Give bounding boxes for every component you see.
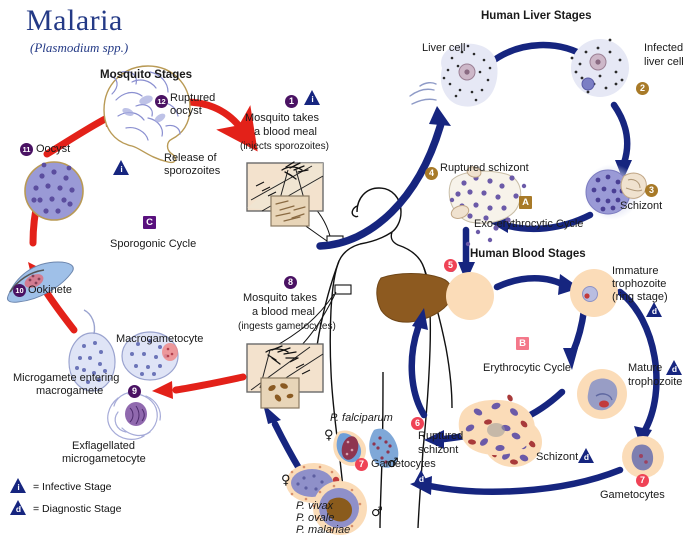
- label-liver-cell: Liver cell: [422, 42, 465, 55]
- infective-stage-marker-bite1: i: [304, 90, 321, 105]
- label-release-of-l2: sporozoites: [164, 165, 220, 178]
- arrow-navy-immature-to-mature: [573, 310, 584, 352]
- malaria-life-cycle-diagram: Malaria (Plasmodium spp.): [0, 0, 700, 533]
- cycle-label-C: Sporogonic Cycle: [110, 238, 196, 251]
- label-microgamete-l2: macrogamete: [36, 385, 103, 398]
- arrow-navy-bruptured-to-rbc: [412, 328, 424, 415]
- label-mature-troph-l1: Mature: [628, 362, 662, 375]
- rbc-gametocyte-right: [622, 436, 664, 478]
- oocyst-cell: [25, 162, 83, 220]
- label-mature-troph-l2: trophozoite: [628, 376, 682, 389]
- label-mosquito-bite-8-l3: (ingests gametocytes): [238, 320, 336, 333]
- infective-glyph: i: [304, 93, 321, 105]
- label-ookinete: Ookinete: [28, 284, 72, 297]
- step-badge-10: 10: [13, 284, 26, 297]
- legend-diagnostic-triangle: d: [10, 500, 27, 515]
- cycle-label-A: Exo-erythrocytic Cycle: [474, 218, 583, 231]
- liver-organ: [377, 274, 453, 323]
- cycle-marker-A: A: [519, 196, 532, 209]
- infective-stage-marker-sporozoites: i: [113, 160, 130, 175]
- arrow-navy-infected-to-schizont: [614, 105, 627, 163]
- label-infected-liver-cell-l2: liver cell: [644, 56, 684, 69]
- step-badge-11: 11: [20, 143, 33, 156]
- step-badge-7-center: 7: [355, 458, 368, 471]
- rbc-uninfected: [446, 272, 494, 320]
- male-symbol-falciparum: ♂: [387, 456, 399, 471]
- section-title-mosquito-stages: Mosquito Stages: [100, 69, 192, 82]
- label-exflagellated-l2: microgametocyte: [62, 453, 146, 466]
- label-exflagellated-l1: Exflagellated: [72, 440, 135, 453]
- legend-infective-triangle: i: [10, 478, 27, 493]
- label-ruptured-oocyst-l2: oocyst: [170, 105, 202, 118]
- label-oocyst: Oocyst: [36, 143, 70, 156]
- female-symbol-falciparum: ♀: [324, 428, 334, 443]
- arrow-red-photo8-to-gametes: [176, 377, 243, 390]
- step-badge-2: 2: [636, 82, 649, 95]
- diagnostic-glyph: d: [578, 451, 595, 463]
- label-immature-troph-l3: (ring stage): [612, 291, 668, 304]
- label-gametocytes-center: Gametocytes: [371, 458, 436, 471]
- label-immature-troph-l1: Immature: [612, 265, 658, 278]
- infective-glyph: i: [113, 163, 130, 175]
- label-release-of-l1: Release of: [164, 152, 217, 165]
- section-title-liver-stages: Human Liver Stages: [481, 10, 592, 23]
- diagnostic-glyph: d: [666, 363, 683, 375]
- label-ruptured-schizont-blood-l2: schizont: [418, 444, 458, 457]
- step-badge-9: 9: [128, 385, 141, 398]
- label-gametocytes-right: Gametocytes: [600, 489, 665, 502]
- label-p-malariae: P. malariae: [296, 524, 350, 537]
- label-schizont-blood: Schizont: [536, 451, 578, 464]
- male-symbol-vivax: ♂: [371, 505, 383, 520]
- step-badge-4: 4: [425, 167, 438, 180]
- diagnostic-glyph: d: [413, 473, 430, 485]
- exflagellated-microgametocyte-cell: [108, 392, 161, 439]
- step-badge-12: 12: [155, 95, 168, 108]
- label-mosquito-bite-1-l3: (injects sporozoites): [240, 140, 329, 153]
- diagnostic-stage-marker-mature: d: [666, 360, 683, 375]
- step-badge-1: 1: [285, 95, 298, 108]
- rbc-ruptured-schizont: [459, 394, 535, 455]
- female-symbol-vivax: ♀: [281, 473, 291, 488]
- cycle-label-B: Erythrocytic Cycle: [483, 362, 571, 375]
- step-badge-6: 6: [411, 417, 424, 430]
- label-mosquito-bite-1-l2: a blood meal: [254, 126, 317, 139]
- label-ruptured-schizont-liver: Ruptured schizont: [440, 162, 529, 175]
- section-title-blood-stages: Human Blood Stages: [470, 248, 586, 261]
- legend-diagnostic-text: = Diagnostic Stage: [33, 503, 121, 515]
- label-immature-troph-l2: trophozoite: [612, 278, 666, 291]
- label-ruptured-schizont-blood-l1: Ruptured: [418, 430, 463, 443]
- step-badge-5: 5: [444, 259, 457, 272]
- diagnostic-glyph: d: [646, 305, 663, 317]
- photo-panel-mosquito-bite-1: [247, 162, 323, 226]
- arrow-navy-rbc-to-immature: [497, 278, 566, 287]
- label-schizont-liver: Schizont: [620, 200, 662, 213]
- cycle-marker-C: C: [143, 216, 156, 229]
- label-ruptured-oocyst-l1: Ruptured: [170, 92, 215, 105]
- step-badge-3: 3: [645, 184, 658, 197]
- step-badge-7-right: 7: [636, 474, 649, 487]
- label-mosquito-bite-1-l1: Mosquito takes: [245, 112, 319, 125]
- label-macrogametocyte: Macrogametocyte: [116, 333, 203, 346]
- rbc-immature-trophozoite: [570, 269, 618, 317]
- arrow-navy-bite-to-liver: [320, 120, 442, 246]
- arrow-navy-gametocytes-loop: [430, 470, 620, 492]
- label-p-falciparum: P. falciparum: [330, 412, 393, 425]
- legend-infective-text: = Infective Stage: [33, 481, 112, 493]
- diagnostic-glyph: d: [10, 503, 27, 515]
- label-mosquito-bite-8-l2: a blood meal: [252, 306, 315, 319]
- infective-glyph: i: [10, 481, 27, 493]
- label-microgamete-l1: Microgamete entering: [13, 372, 119, 385]
- arrow-navy-gametocytes-to-photo8: [275, 424, 300, 470]
- label-infected-liver-cell-l1: Infected: [644, 42, 683, 55]
- diagnostic-stage-marker-gametocytes: d: [413, 470, 430, 485]
- diagnostic-stage-marker-schizont: d: [578, 448, 595, 463]
- diagnostic-stage-marker-immature: d: [646, 302, 663, 317]
- cycle-marker-B: B: [516, 337, 529, 350]
- photo-panel-mosquito-bite-8: [247, 344, 323, 408]
- liver-ruptured-schizont: [449, 165, 526, 246]
- label-mosquito-bite-8-l1: Mosquito takes: [243, 292, 317, 305]
- step-badge-8: 8: [284, 276, 297, 289]
- rbc-mature-trophozoite: [577, 369, 627, 419]
- infected-liver-cell: [571, 39, 629, 97]
